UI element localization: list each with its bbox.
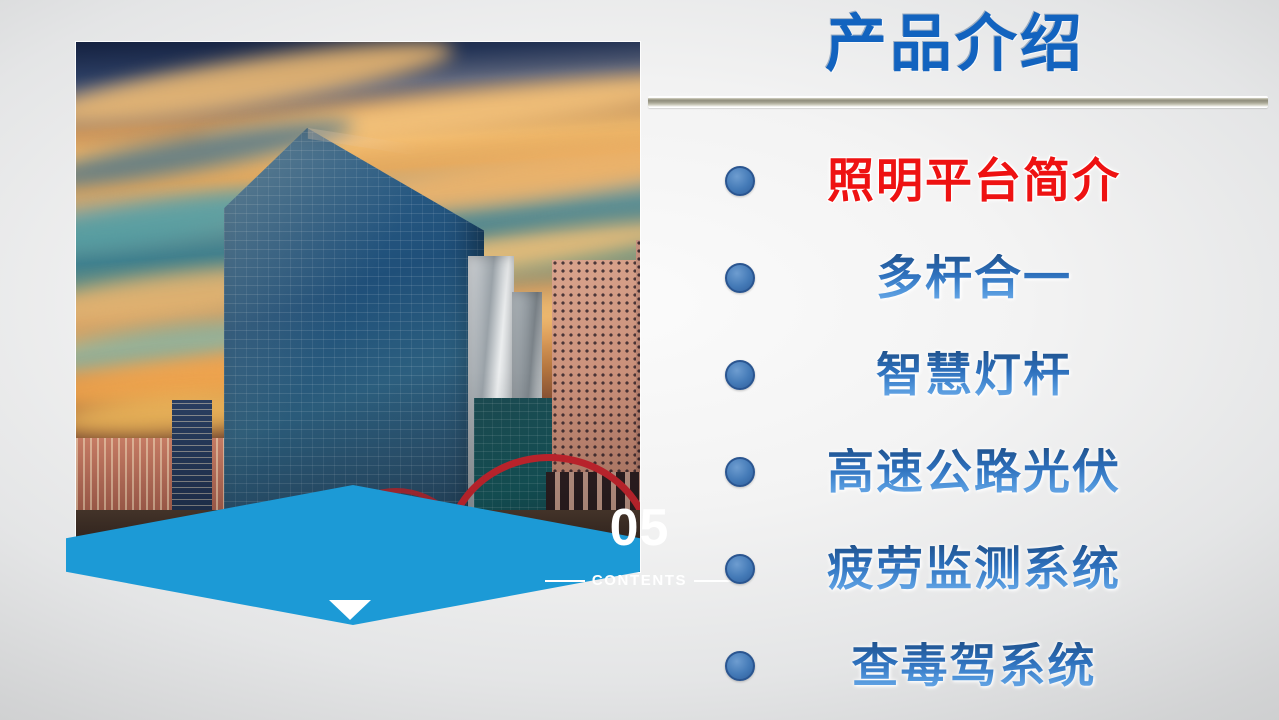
presentation-slide: 05 CONTENTS 产品介绍 照明平台简介 多杆合一 智慧灯杆 高速公路光伏… [0,0,1279,720]
bullet-dot-icon [725,263,755,293]
list-item-label: 查毒驾系统 [755,642,1265,689]
list-item[interactable]: 疲劳监测系统 [700,520,1265,617]
contents-list: 照明平台简介 多杆合一 智慧灯杆 高速公路光伏 疲劳监测系统 查毒驾系统 [700,132,1265,714]
list-item[interactable]: 照明平台简介 [700,132,1265,229]
list-item-label: 智慧灯杆 [755,351,1265,398]
list-item[interactable]: 高速公路光伏 [700,423,1265,520]
bullet-dot-icon [725,651,755,681]
list-item-label: 疲劳监测系统 [755,545,1265,592]
list-item-label: 高速公路光伏 [755,448,1265,495]
list-item-label: 照明平台简介 [755,157,1265,204]
page-title: 产品介绍 [645,6,1265,84]
list-item[interactable]: 智慧灯杆 [700,326,1265,423]
down-arrow-icon [329,600,371,620]
list-item-label: 多杆合一 [755,254,1265,301]
bullet-dot-icon [725,360,755,390]
rule-left [545,580,585,582]
list-item[interactable]: 多杆合一 [700,229,1265,326]
bullet-dot-icon [725,554,755,584]
bullet-dot-icon [725,166,755,196]
contents-label: CONTENTS [592,572,687,589]
bullet-dot-icon [725,457,755,487]
title-divider [648,96,1268,108]
list-item[interactable]: 查毒驾系统 [700,617,1265,714]
